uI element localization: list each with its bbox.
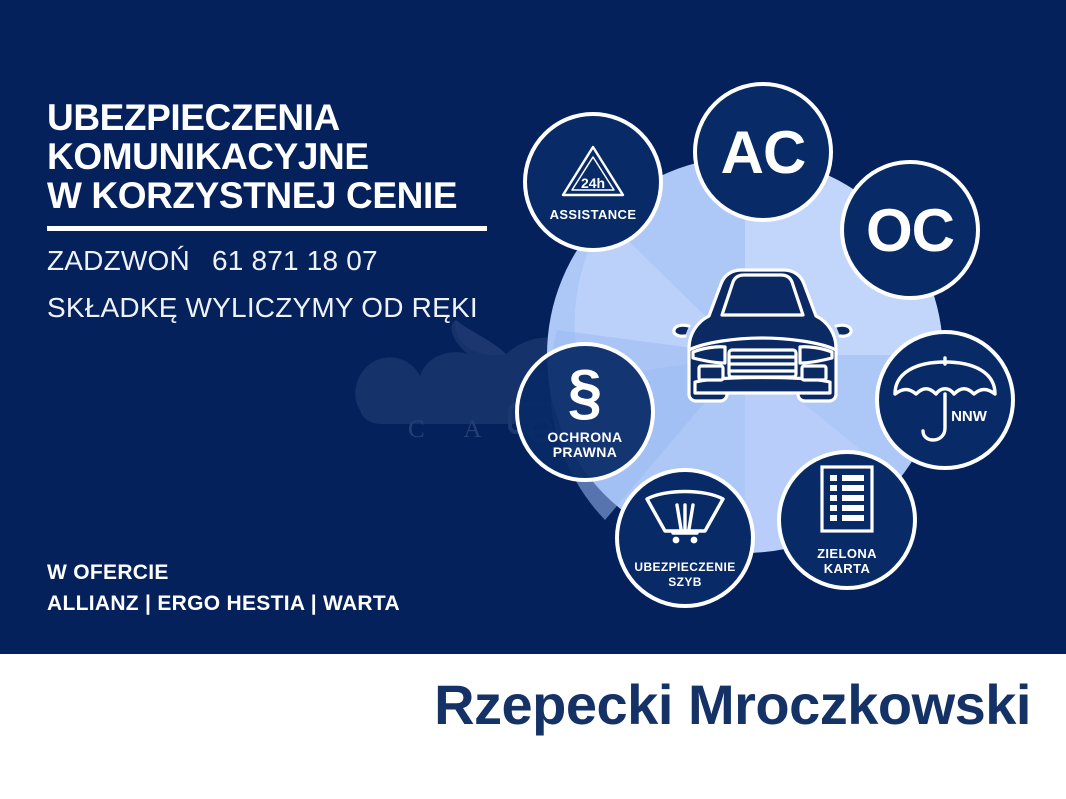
headline-block: UBEZPIECZENIA KOMUNIKACYJNE W KORZYSTNEJ…: [47, 98, 517, 325]
brand-name: Rzepecki Mroczkowski: [434, 672, 1031, 737]
coverage-diagram: 24h ASSISTANCE AC OC: [505, 80, 1005, 640]
headline-line-2: KOMUNIKACYJNE: [47, 137, 517, 176]
badge-ubezpieczenie-szyb-label-line1: UBEZPIECZENIE: [634, 560, 735, 575]
badge-ac-label: AC: [721, 118, 806, 187]
windshield-wipers-icon: [643, 487, 727, 554]
badge-nnw[interactable]: NNW: [875, 330, 1015, 470]
document-checklist-icon: [819, 464, 875, 539]
badge-assistance-label: ASSISTANCE: [550, 207, 637, 222]
badge-ubezpieczenie-szyb-label-line2: SZYB: [668, 575, 702, 590]
warning-triangle-icon: 24h: [560, 143, 626, 204]
badge-ac[interactable]: AC: [693, 82, 833, 222]
badge-ochrona-prawna-label-line1: OCHRONA: [547, 430, 622, 445]
headline-line-1: UBEZPIECZENIA: [47, 98, 517, 137]
car-front-icon: [665, 262, 860, 422]
badge-zielona-karta-label-line2: KARTA: [824, 561, 871, 576]
offer-block: W OFERCIE ALLIANZ | ERGO HESTIA | WARTA: [47, 557, 400, 619]
insurance-advertisement-poster: C A R S UBEZPIECZENIA KOMUNIKACYJNE W KO…: [0, 0, 1066, 799]
headline-divider: [47, 226, 487, 231]
tagline: SKŁADKĘ WYLICZYMY OD RĘKI: [47, 290, 517, 325]
section-sign-icon: §: [568, 365, 602, 421]
badge-ubezpieczenie-szyb[interactable]: UBEZPIECZENIE SZYB: [615, 468, 755, 608]
umbrella-icon: NNW: [891, 348, 999, 453]
phone-number[interactable]: 61 871 18 07: [212, 245, 378, 276]
badge-assistance[interactable]: 24h ASSISTANCE: [523, 112, 663, 252]
call-to-action-line: ZADZWOŃ61 871 18 07: [47, 243, 517, 278]
call-label: ZADZWOŃ: [47, 245, 190, 276]
badge-zielona-karta-label-line1: ZIELONA: [817, 546, 877, 561]
headline-line-3: W KORZYSTNEJ CENIE: [47, 176, 517, 215]
svg-text:24h: 24h: [581, 175, 605, 191]
badge-zielona-karta[interactable]: ZIELONA KARTA: [777, 450, 917, 590]
badge-ochrona-prawna[interactable]: § OCHRONA PRAWNA: [515, 342, 655, 482]
badge-ochrona-prawna-label-line2: PRAWNA: [553, 445, 618, 460]
badge-oc[interactable]: OC: [840, 160, 980, 300]
svg-text:NNW: NNW: [951, 408, 988, 425]
offer-heading: W OFERCIE: [47, 557, 400, 588]
badge-oc-label: OC: [866, 196, 954, 265]
offer-insurers: ALLIANZ | ERGO HESTIA | WARTA: [47, 588, 400, 619]
navy-background-panel: C A R S UBEZPIECZENIA KOMUNIKACYJNE W KO…: [0, 0, 1066, 654]
